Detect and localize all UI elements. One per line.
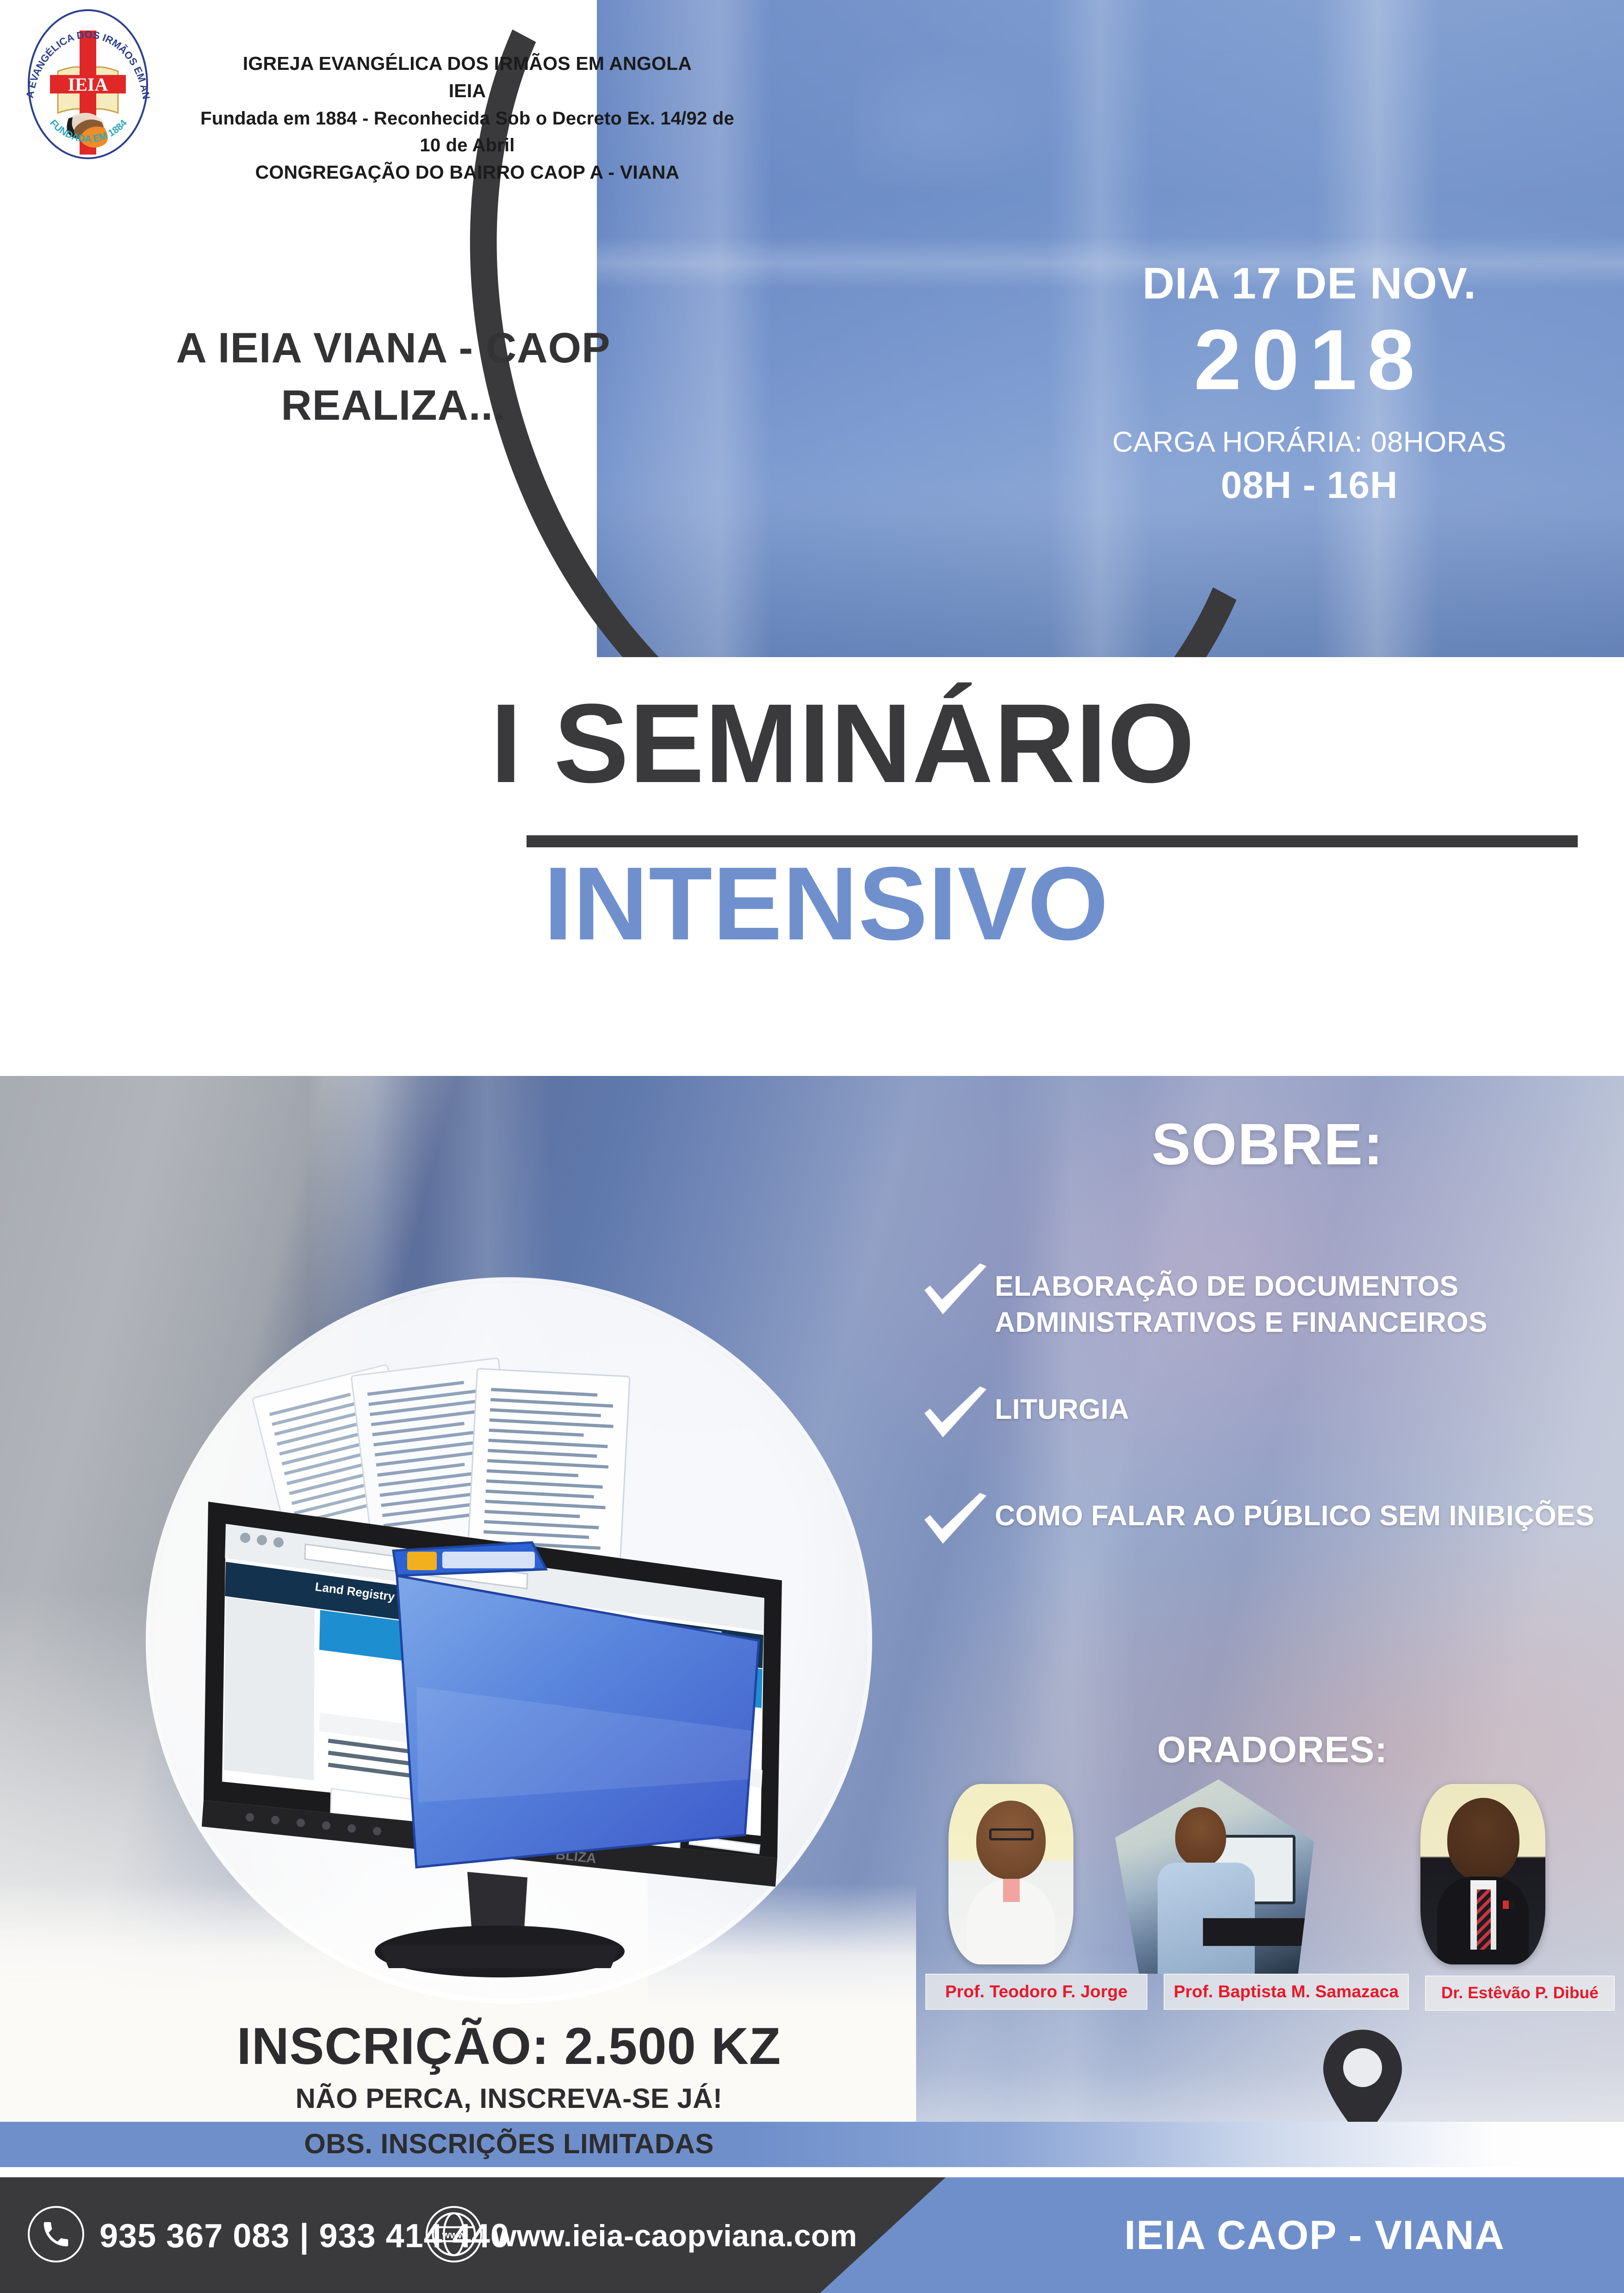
check-icon bbox=[921, 1386, 995, 1447]
about-list-item: COMO FALAR AO PÚBLICO SEM INIBIÇÕES bbox=[921, 1493, 1624, 1553]
svg-text:IEIA: IEIA bbox=[68, 74, 108, 95]
about-list: ELABORAÇÃO DE DOCUMENTOS ADMINISTRATIVOS… bbox=[921, 1263, 1624, 1599]
check-icon bbox=[921, 1493, 995, 1553]
about-list-item: LITURGIA bbox=[921, 1386, 1624, 1447]
poster-root: IEIA IGREJA EVANGÉLICA DOS IRMÃOS EM ANG… bbox=[0, 0, 1624, 2293]
event-workload: CARGA HORÁRIA: 08HORAS bbox=[1055, 426, 1564, 459]
organization-header: IGREJA EVANGÉLICA DOS IRMÃOS EM ANGOLA I… bbox=[199, 50, 736, 186]
intro-line-2: REALIZA... bbox=[139, 377, 648, 434]
speaker-name-badge: Dr. Estêvão P. Dibué bbox=[1425, 1976, 1615, 2011]
page-title: I SEMINÁRIO bbox=[490, 687, 1601, 800]
speakers-photo-group bbox=[921, 1779, 1624, 2001]
registration-price: INSCRIÇÃO: 2.500 KZ bbox=[199, 2018, 819, 2075]
org-name-line: IGREJA EVANGÉLICA DOS IRMÃOS EM ANGOLA bbox=[199, 50, 736, 77]
intro-text: A IEIA VIANA - CAOP REALIZA... bbox=[139, 319, 648, 434]
speaker-name-badge: Prof. Baptista M. Samazaca bbox=[1164, 1974, 1409, 2010]
speaker-photo bbox=[1420, 1784, 1545, 1964]
speaker-photo bbox=[1115, 1779, 1314, 1974]
svg-text:www: www bbox=[442, 2229, 466, 2241]
about-list-item: ELABORAÇÃO DE DOCUMENTOS ADMINISTRATIVOS… bbox=[921, 1263, 1624, 1340]
about-item-text: ELABORAÇÃO DE DOCUMENTOS ADMINISTRATIVOS… bbox=[995, 1263, 1624, 1340]
event-hours: 08H - 16H bbox=[1055, 464, 1564, 507]
registration-note: OBS. INSCRIÇÕES LIMITADAS bbox=[199, 2128, 819, 2160]
org-congregation-line: CONGREGAÇÃO DO BAIRRO CAOP A - VIANA bbox=[199, 159, 736, 186]
phone-icon bbox=[28, 2206, 84, 2262]
about-item-text: LITURGIA bbox=[995, 1386, 1129, 1427]
page-subtitle: INTENSIVO bbox=[544, 851, 1608, 956]
footer: 935 367 083 | 933 414 440 www www.ieia-c… bbox=[0, 2177, 1624, 2293]
speakers-heading: ORADORES: bbox=[921, 1728, 1624, 1771]
church-logo: IEIA IGREJA EVANGÉLICA DOS IRMÃOS EM ANG… bbox=[14, 6, 162, 159]
speaker-name-badge: Prof. Teodoro F. Jorge bbox=[925, 1974, 1147, 2010]
monitor-documents-illustration: Land Registry Title R... bbox=[176, 1335, 851, 1983]
org-founding-line: Fundada em 1884 - Reconhecida Sob o Decr… bbox=[199, 105, 736, 159]
footer-website[interactable]: www.ieia-caopviana.com bbox=[493, 2218, 857, 2253]
about-item-text: COMO FALAR AO PÚBLICO SEM INIBIÇÕES bbox=[995, 1493, 1594, 1534]
registration-cta: NÃO PERCA, INSCREVA-SE JÁ! bbox=[199, 2082, 819, 2114]
intro-line-1: A IEIA VIANA - CAOP bbox=[139, 319, 648, 377]
title-band: I SEMINÁRIO INTENSIVO bbox=[0, 657, 1624, 1076]
speaker-photo bbox=[948, 1784, 1073, 1964]
globe-www-icon: www bbox=[426, 2206, 482, 2262]
speaker-name-row: Prof. Teodoro F. Jorge Prof. Baptista M.… bbox=[921, 1969, 1624, 2020]
event-date-block: DIA 17 DE NOV. 2018 CARGA HORÁRIA: 08HOR… bbox=[1055, 259, 1564, 507]
footer-brand: IEIA CAOP - VIANA bbox=[1124, 2212, 1505, 2259]
event-year: 2018 bbox=[1055, 311, 1564, 410]
about-heading: SOBRE: bbox=[911, 1111, 1624, 1178]
org-acronym-line: IEIA bbox=[199, 77, 736, 105]
event-day-label: DIA 17 DE NOV. bbox=[1055, 259, 1564, 308]
check-icon bbox=[921, 1263, 995, 1324]
